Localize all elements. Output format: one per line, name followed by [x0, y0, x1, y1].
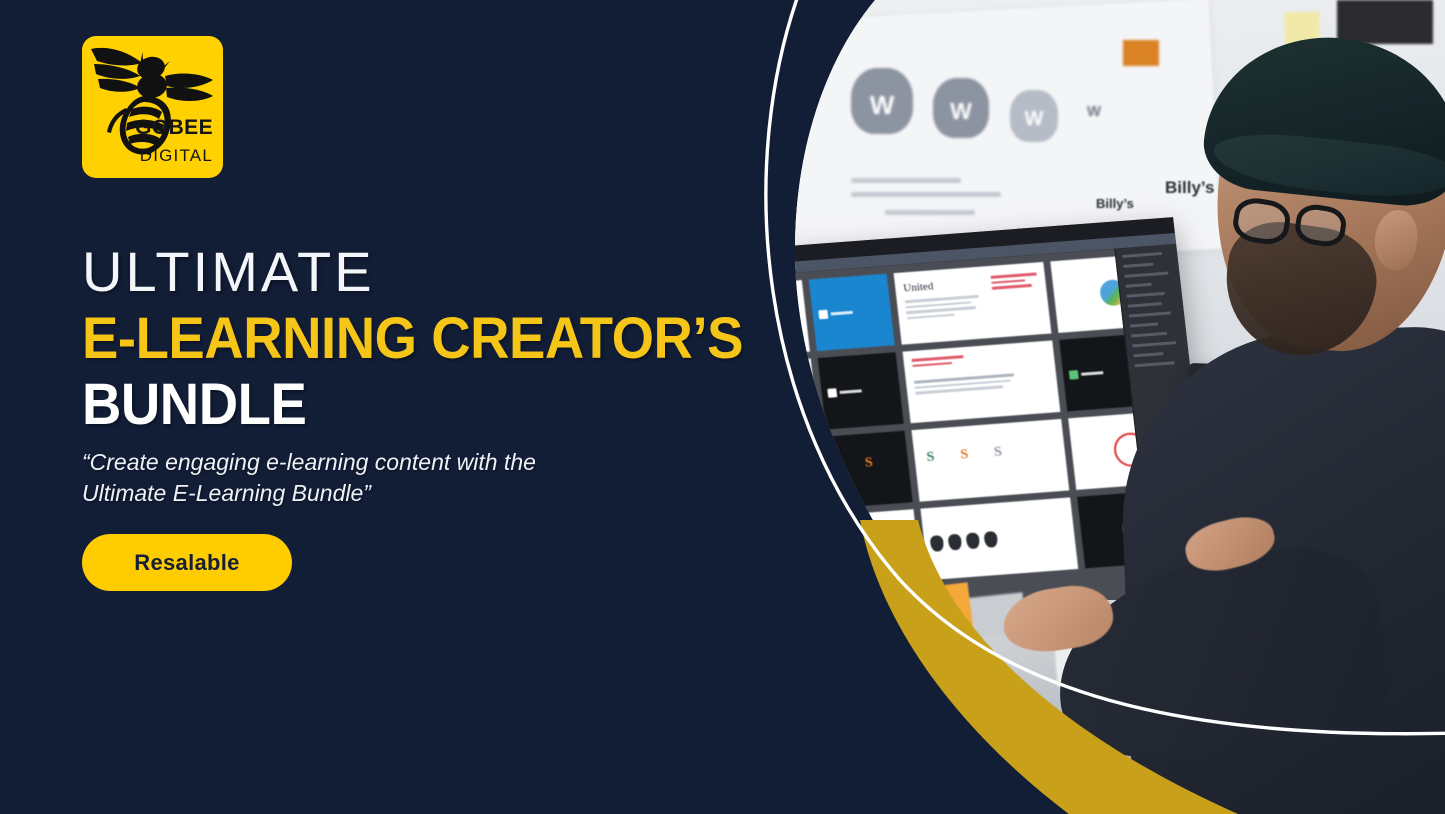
wall-poster-card	[1337, 0, 1433, 44]
page-title: ULTIMATE E-LEARNING CREATOR’S BUNDLE	[82, 243, 785, 437]
wall-billys-logo: Billy’s	[1165, 178, 1214, 198]
headline-line-1: ULTIMATE	[82, 243, 785, 302]
headline-line-2: E-LEARNING CREATOR’S	[82, 308, 743, 371]
wall-shield-logo: W	[1081, 100, 1107, 128]
design-card: United	[894, 262, 1052, 345]
logo-brand-name: GOBEE	[82, 116, 213, 140]
wall-caption-line	[851, 178, 961, 183]
card-title: United	[903, 280, 934, 294]
design-card	[818, 352, 904, 429]
design-card	[809, 274, 895, 351]
wall-caption-line	[851, 192, 1001, 197]
wall-caption-line	[885, 210, 975, 215]
design-card: S	[774, 437, 828, 512]
design-card: S	[827, 431, 913, 508]
logo-brand-sub: DIGITAL	[82, 146, 213, 166]
resalable-button[interactable]: Resalable	[82, 534, 292, 591]
design-card	[920, 497, 1078, 580]
wall-poster-card	[1123, 40, 1159, 66]
design-card	[836, 509, 922, 586]
design-card: S S S	[911, 419, 1069, 502]
wall-shield-logo: W	[933, 78, 989, 138]
hero-photo: W W W W Billy’s Billy’s United	[755, 0, 1445, 814]
headline-line-3: BUNDLE	[82, 374, 743, 437]
subtitle-quote: “Create engaging e-learning content with…	[82, 447, 602, 508]
gobee-logo[interactable]: GOBEE DIGITAL	[82, 36, 223, 178]
design-card	[783, 516, 837, 591]
wall-shield-logo: W	[851, 68, 913, 134]
card-letter: S	[795, 461, 805, 477]
card-letter: S	[864, 455, 874, 471]
wall-billys-logo: Billy’s	[1096, 196, 1134, 211]
wall-shield-logo: W	[1010, 90, 1058, 142]
promo-banner: W W W W Billy’s Billy’s United	[0, 0, 1445, 814]
design-card	[903, 340, 1061, 423]
